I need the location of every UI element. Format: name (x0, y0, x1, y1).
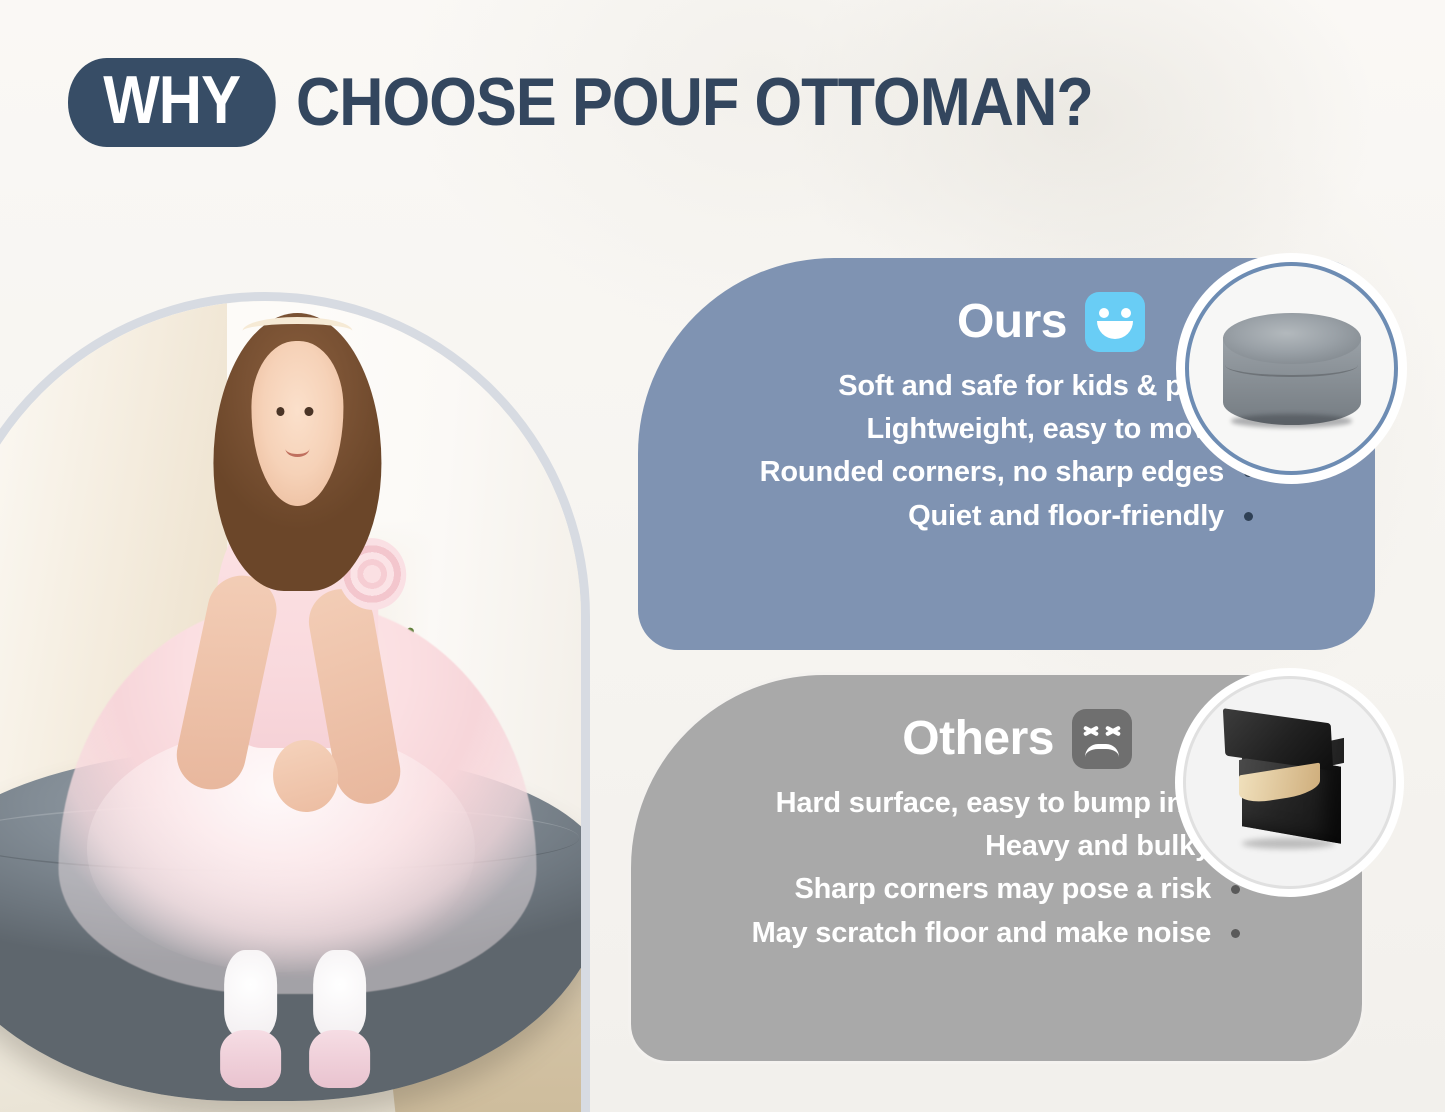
headline-badge: WHY (68, 58, 275, 147)
others-product-image (1183, 676, 1396, 889)
others-bullet-1: Hard surface, easy to bump into (776, 783, 1211, 824)
list-item: May scratch floor and make noise (671, 913, 1240, 954)
ours-bullet-2: Lightweight, easy to move (866, 409, 1224, 450)
others-bullet-2: Heavy and bulky (985, 826, 1211, 867)
list-item: Heavy and bulky (671, 826, 1240, 867)
ours-bullet-4: Quiet and floor-friendly (908, 496, 1224, 537)
sock-right (314, 950, 367, 1037)
confounded-face-icon (1072, 709, 1132, 769)
lifestyle-photo (0, 301, 581, 1112)
black-square-storage-ottoman-photo (1215, 714, 1365, 852)
ours-product-image (1185, 262, 1398, 475)
mouth (285, 440, 309, 457)
child-model (95, 301, 499, 1008)
others-bullet-4: May scratch floor and make noise (752, 913, 1211, 954)
bullet-dot-icon (1244, 468, 1253, 477)
lifestyle-photo-frame (0, 292, 590, 1112)
ours-bullet-1: Soft and safe for kids & pets (838, 366, 1224, 407)
ours-title: Ours (957, 298, 1067, 346)
child-head (235, 313, 360, 530)
list-item: Lightweight, easy to move (678, 409, 1253, 450)
shoe-right (309, 1030, 370, 1088)
bullet-dot-icon (1231, 929, 1240, 938)
shoe-left (220, 1030, 281, 1088)
list-item: Sharp corners may pose a risk (671, 869, 1240, 910)
list-item: Rounded corners, no sharp edges (678, 452, 1253, 493)
list-item: Hard surface, easy to bump into (671, 783, 1240, 824)
eye-left (276, 407, 284, 416)
page-title: WHY CHOOSE POUF OTTOMAN? (68, 58, 1181, 147)
list-item: Quiet and floor-friendly (678, 496, 1253, 537)
others-bullet-3: Sharp corners may pose a risk (794, 869, 1211, 910)
headline-text: CHOOSE POUF OTTOMAN? (296, 68, 1093, 137)
others-title: Others (902, 715, 1054, 763)
list-item: Soft and safe for kids & pets (678, 366, 1253, 407)
ours-bullet-3: Rounded corners, no sharp edges (760, 452, 1224, 493)
eye-right (305, 407, 313, 416)
pearl-headband (242, 317, 352, 345)
smiling-face-icon (1085, 292, 1145, 352)
bullet-dot-icon (1244, 512, 1253, 521)
bullet-dot-icon (1231, 885, 1240, 894)
infographic-root: WHY CHOOSE POUF OTTOMAN? (0, 0, 1445, 1112)
sock-left (225, 950, 278, 1037)
round-gray-pouf-ottoman-photo (1223, 313, 1361, 425)
